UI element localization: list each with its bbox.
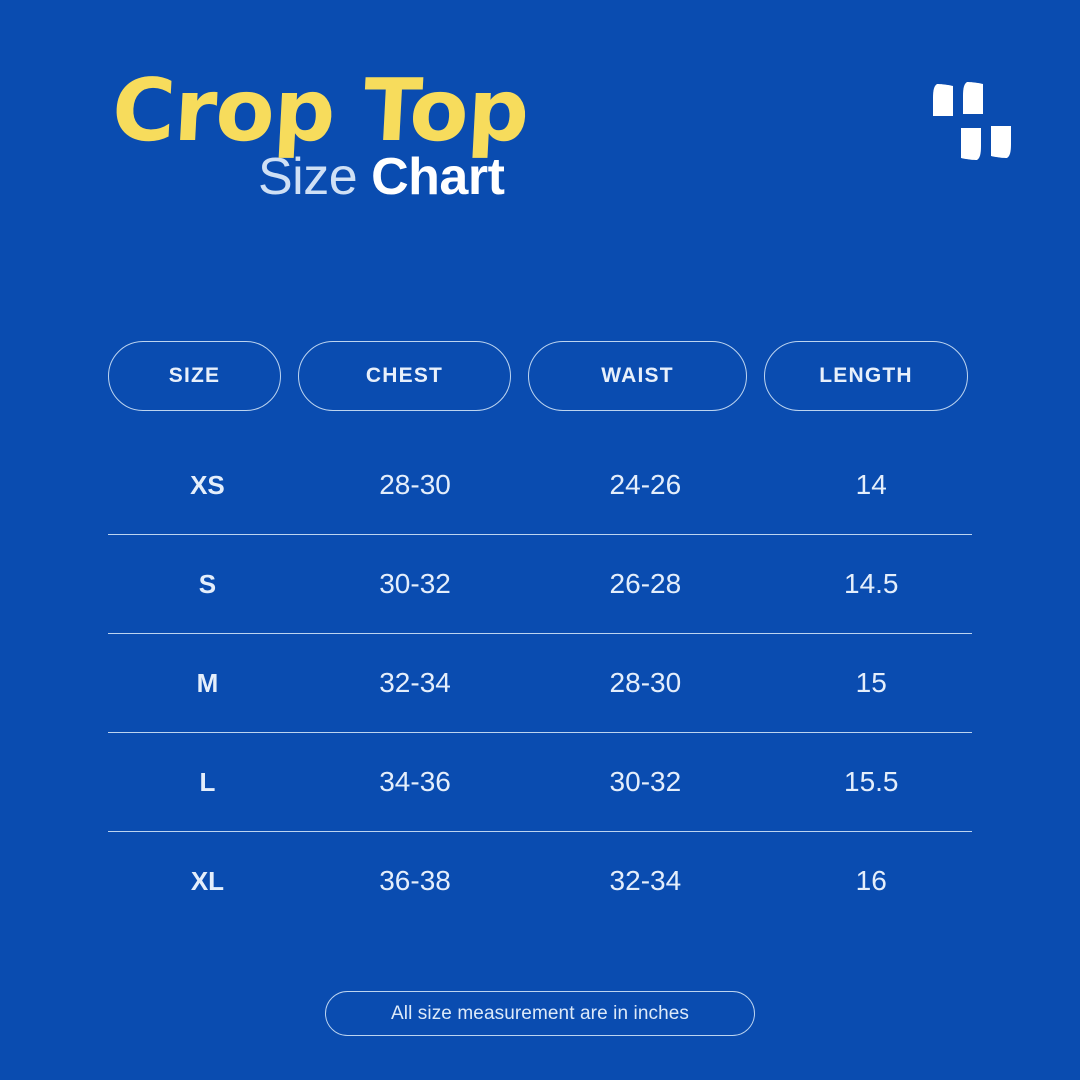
cell-length: 14	[771, 469, 972, 501]
cell-waist: 32-34	[537, 865, 753, 897]
cell-length: 16	[771, 865, 972, 897]
cell-length: 14.5	[771, 568, 972, 600]
cell-size: L	[122, 767, 293, 798]
cell-chest: 28-30	[310, 469, 520, 501]
cell-waist: 26-28	[537, 568, 753, 600]
cell-size: M	[122, 668, 293, 699]
column-header-label: WAIST	[601, 364, 674, 388]
cell-waist: 24-26	[537, 469, 753, 501]
column-header-chest: CHEST	[298, 341, 511, 411]
cell-size: XS	[122, 470, 293, 501]
column-header-label: LENGTH	[819, 364, 913, 388]
cell-chest: 30-32	[310, 568, 520, 600]
table-row: XL 36-38 32-34 16	[108, 832, 972, 930]
size-chart-table: SIZE CHEST WAIST LENGTH XS 28-30 24-26 1…	[108, 341, 972, 930]
table-header-row: SIZE CHEST WAIST LENGTH	[108, 341, 972, 411]
column-header-length: LENGTH	[764, 341, 968, 411]
cell-waist: 28-30	[537, 667, 753, 699]
column-header-size: SIZE	[108, 341, 281, 411]
table-row: XS 28-30 24-26 14	[108, 436, 972, 535]
table-row: L 34-36 30-32 15.5	[108, 733, 972, 832]
cell-length: 15.5	[771, 766, 972, 798]
cell-chest: 34-36	[310, 766, 520, 798]
cell-size: XL	[122, 866, 293, 897]
title-block: Crop Top Size Chart	[110, 68, 730, 205]
table-body: XS 28-30 24-26 14 S 30-32 26-28 14.5 M 3…	[108, 436, 972, 930]
cell-size: S	[122, 569, 293, 600]
page-title: Crop Top	[110, 68, 735, 154]
table-row: M 32-34 28-30 15	[108, 634, 972, 733]
column-header-label: SIZE	[169, 364, 220, 388]
cell-length: 15	[771, 667, 972, 699]
measurement-note-label: All size measurement are in inches	[391, 1003, 689, 1025]
measurement-note-pill: All size measurement are in inches	[325, 991, 755, 1036]
column-header-label: CHEST	[366, 364, 443, 388]
cell-chest: 36-38	[310, 865, 520, 897]
table-row: S 30-32 26-28 14.5	[108, 535, 972, 634]
cell-chest: 32-34	[310, 667, 520, 699]
quotation-marks-icon	[925, 72, 1021, 168]
column-header-waist: WAIST	[528, 341, 747, 411]
cell-waist: 30-32	[537, 766, 753, 798]
